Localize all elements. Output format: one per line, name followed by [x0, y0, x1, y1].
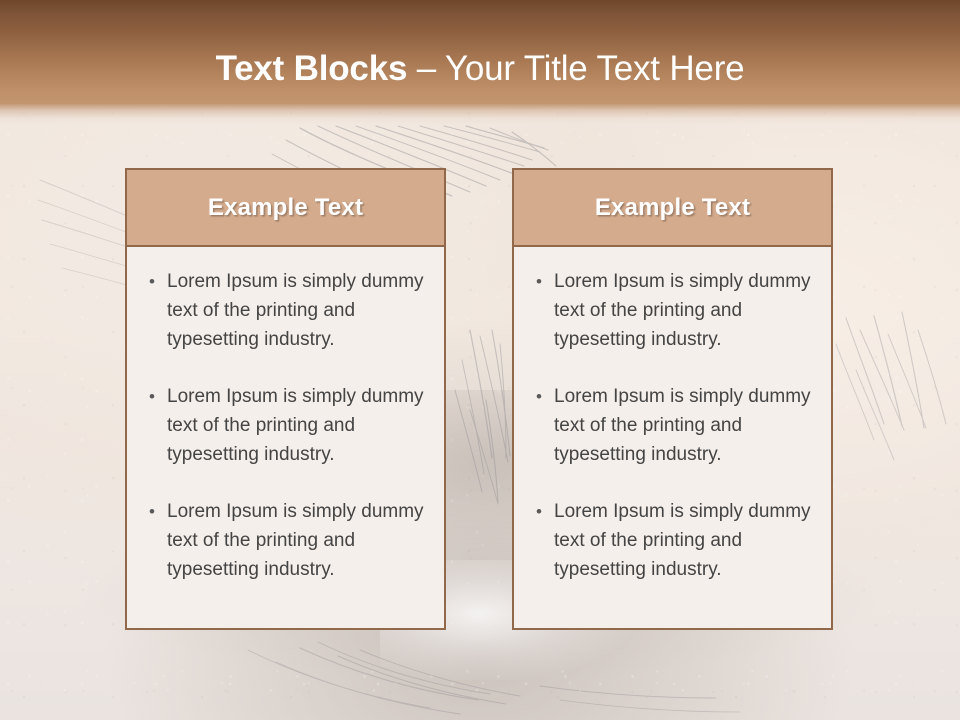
card-header-left: Example Text	[127, 170, 444, 247]
bullet-text: Lorem Ipsum is simply dummy text of the …	[554, 382, 817, 469]
bullet-dot-icon: •	[524, 382, 554, 411]
page-title: Text Blocks – Your Title Text Here	[0, 48, 960, 90]
bullet-dot-icon: •	[137, 267, 167, 296]
page-title-light: – Your Title Text Here	[417, 49, 745, 88]
bullet-text: Lorem Ipsum is simply dummy text of the …	[167, 382, 430, 469]
bullet-dot-icon: •	[137, 497, 167, 526]
card-header-right: Example Text	[514, 170, 831, 247]
bullet-dot-icon: •	[524, 497, 554, 526]
bullet-text: Lorem Ipsum is simply dummy text of the …	[167, 497, 430, 584]
list-item[interactable]: • Lorem Ipsum is simply dummy text of th…	[524, 382, 817, 469]
card-heading-left: Example Text	[208, 194, 363, 222]
bullet-text: Lorem Ipsum is simply dummy text of the …	[167, 267, 430, 354]
bullet-dot-icon: •	[524, 267, 554, 296]
bullet-text: Lorem Ipsum is simply dummy text of the …	[554, 497, 817, 584]
title-band-fade	[0, 104, 960, 130]
page-title-strong: Text Blocks	[216, 49, 417, 88]
bullet-list-right: • Lorem Ipsum is simply dummy text of th…	[524, 267, 817, 584]
list-item[interactable]: • Lorem Ipsum is simply dummy text of th…	[137, 497, 430, 584]
text-block-card-left[interactable]: Example Text • Lorem Ipsum is simply dum…	[125, 168, 446, 630]
list-item[interactable]: • Lorem Ipsum is simply dummy text of th…	[524, 497, 817, 584]
slide-canvas: Text Blocks – Your Title Text Here Examp…	[0, 0, 960, 720]
text-block-card-right[interactable]: Example Text • Lorem Ipsum is simply dum…	[512, 168, 833, 630]
card-body-left: • Lorem Ipsum is simply dummy text of th…	[127, 247, 444, 584]
list-item[interactable]: • Lorem Ipsum is simply dummy text of th…	[137, 267, 430, 354]
list-item[interactable]: • Lorem Ipsum is simply dummy text of th…	[524, 267, 817, 354]
card-body-right: • Lorem Ipsum is simply dummy text of th…	[514, 247, 831, 584]
card-heading-right: Example Text	[595, 194, 750, 222]
list-item[interactable]: • Lorem Ipsum is simply dummy text of th…	[137, 382, 430, 469]
bullet-list-left: • Lorem Ipsum is simply dummy text of th…	[137, 267, 430, 584]
bullet-text: Lorem Ipsum is simply dummy text of the …	[554, 267, 817, 354]
bullet-dot-icon: •	[137, 382, 167, 411]
